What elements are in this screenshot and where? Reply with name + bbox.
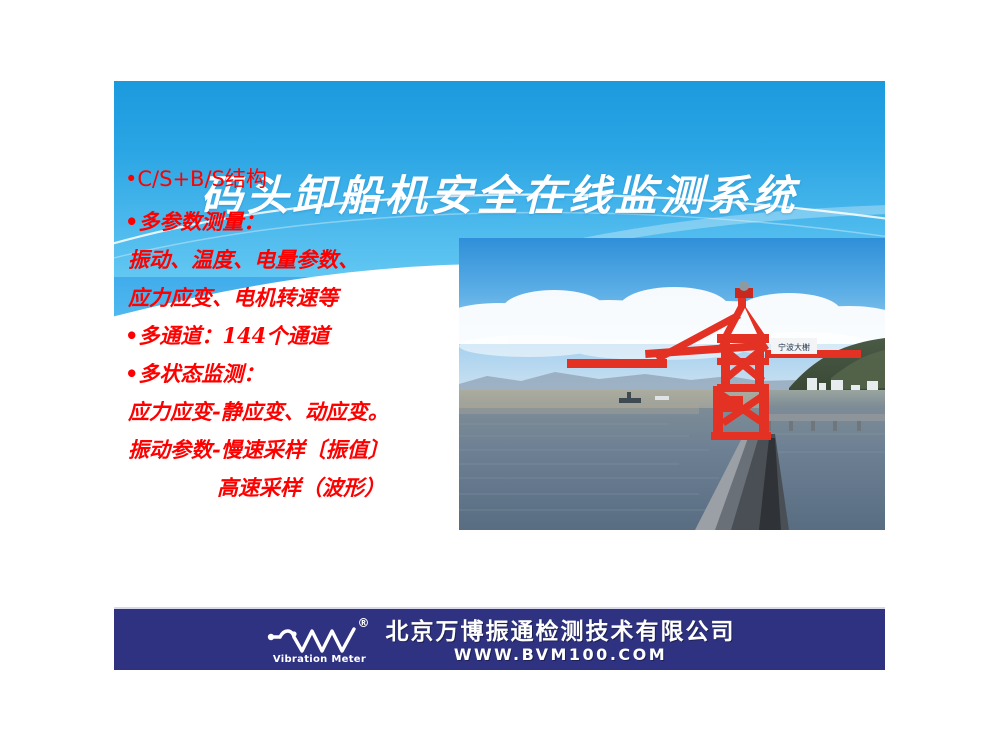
port-ship-unloader-photo: 宁波大榭 [459, 238, 885, 530]
company-brand-block: 北京万博振通检测技术有限公司 WWW.BVM100.COM [386, 619, 736, 663]
company-name: 北京万博振通检测技术有限公司 [386, 619, 736, 644]
vibration-meter-waveform-logo: ® Vibration Meter [264, 617, 376, 665]
company-website: WWW.BVM100.COM [454, 645, 667, 664]
slide-canvas: 码头卸船机安全在线监测系统 •C/S+B/S结构 •多参数测量： 振动、温度、电… [114, 81, 885, 670]
svg-text:宁波大榭: 宁波大榭 [778, 342, 810, 352]
bullet-line-3: 振动、温度、电量参数、 [125, 249, 465, 270]
bullet-line-6: •多状态监测： [125, 363, 465, 384]
registered-trademark-icon: ® [358, 617, 370, 629]
bullet-line-8: 振动参数-慢速采样〔振值〕 [125, 439, 465, 460]
bullet-line-4: 应力应变、电机转速等 [125, 287, 465, 308]
bullet-line-5: •多通道：144个通道 [125, 325, 465, 346]
bullet-line-2: •多参数测量： [125, 211, 465, 232]
bullet-line-7: 应力应变-静应变、动应变。 [125, 401, 465, 422]
bullet-text-column: •C/S+B/S结构 •多参数测量： 振动、温度、电量参数、 应力应变、电机转速… [125, 169, 465, 504]
bullet-line-1: •C/S+B/S结构 [125, 169, 465, 190]
logo-subtitle: Vibration Meter [270, 655, 370, 665]
footer-content: ® Vibration Meter 北京万博振通检测技术有限公司 WWW.BVM… [114, 609, 885, 670]
footer-band: ® Vibration Meter 北京万博振通检测技术有限公司 WWW.BVM… [114, 607, 885, 670]
bullet-line-9: 高速采样（波形） [125, 477, 465, 498]
